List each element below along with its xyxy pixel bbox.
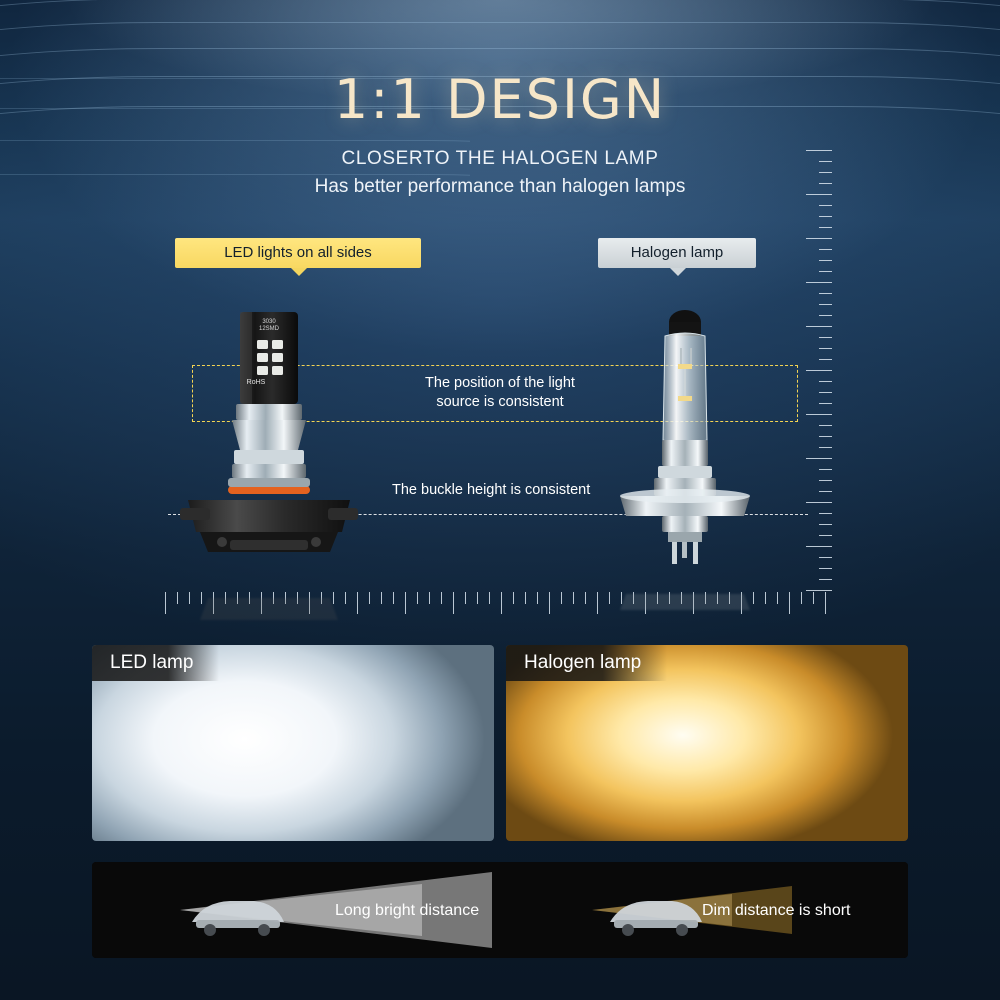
led-bulb-illustration: 3030 12SMD RoHS <box>170 300 390 570</box>
photo-led-label: LED lamp <box>92 645 219 681</box>
photo-led-lamp: LED lamp <box>92 645 494 841</box>
led-bulb-reflection <box>170 560 390 620</box>
light-source-note-line-2: source is consistent <box>350 393 650 412</box>
photo-halogen-lamp: Halogen lamp <box>506 645 908 841</box>
light-source-note: The position of the light source is cons… <box>350 374 650 412</box>
page-title: 1:1 DESIGN <box>0 68 1000 131</box>
photo-halogen-label: Halogen lamp <box>506 645 667 681</box>
halogen-bulb-illustration <box>610 300 760 570</box>
beam-comparison-strip: Long bright distance Dim distance is sho… <box>92 862 908 958</box>
light-source-note-line-1: The position of the light <box>350 374 650 393</box>
subtitle-secondary: Has better performance than halogen lamp… <box>0 176 1000 198</box>
vertical-ruler <box>792 150 832 590</box>
beam-caption-halogen: Dim distance is short <box>702 902 851 920</box>
svg-text:3030: 3030 <box>262 319 276 325</box>
subtitle-primary: CLOSERTO THE HALOGEN LAMP <box>0 148 1000 170</box>
svg-text:12SMD: 12SMD <box>259 326 280 332</box>
tag-halogen-lamp: Halogen lamp <box>598 238 756 268</box>
svg-text:RoHS: RoHS <box>247 379 266 386</box>
halogen-bulb-reflection <box>610 560 760 610</box>
buckle-note: The buckle height is consistent <box>392 482 590 498</box>
beam-caption-led: Long bright distance <box>335 902 479 920</box>
tag-led-lights: LED lights on all sides <box>175 238 421 268</box>
product-infographic: 1:1 DESIGN CLOSERTO THE HALOGEN LAMP Has… <box>0 0 1000 1000</box>
